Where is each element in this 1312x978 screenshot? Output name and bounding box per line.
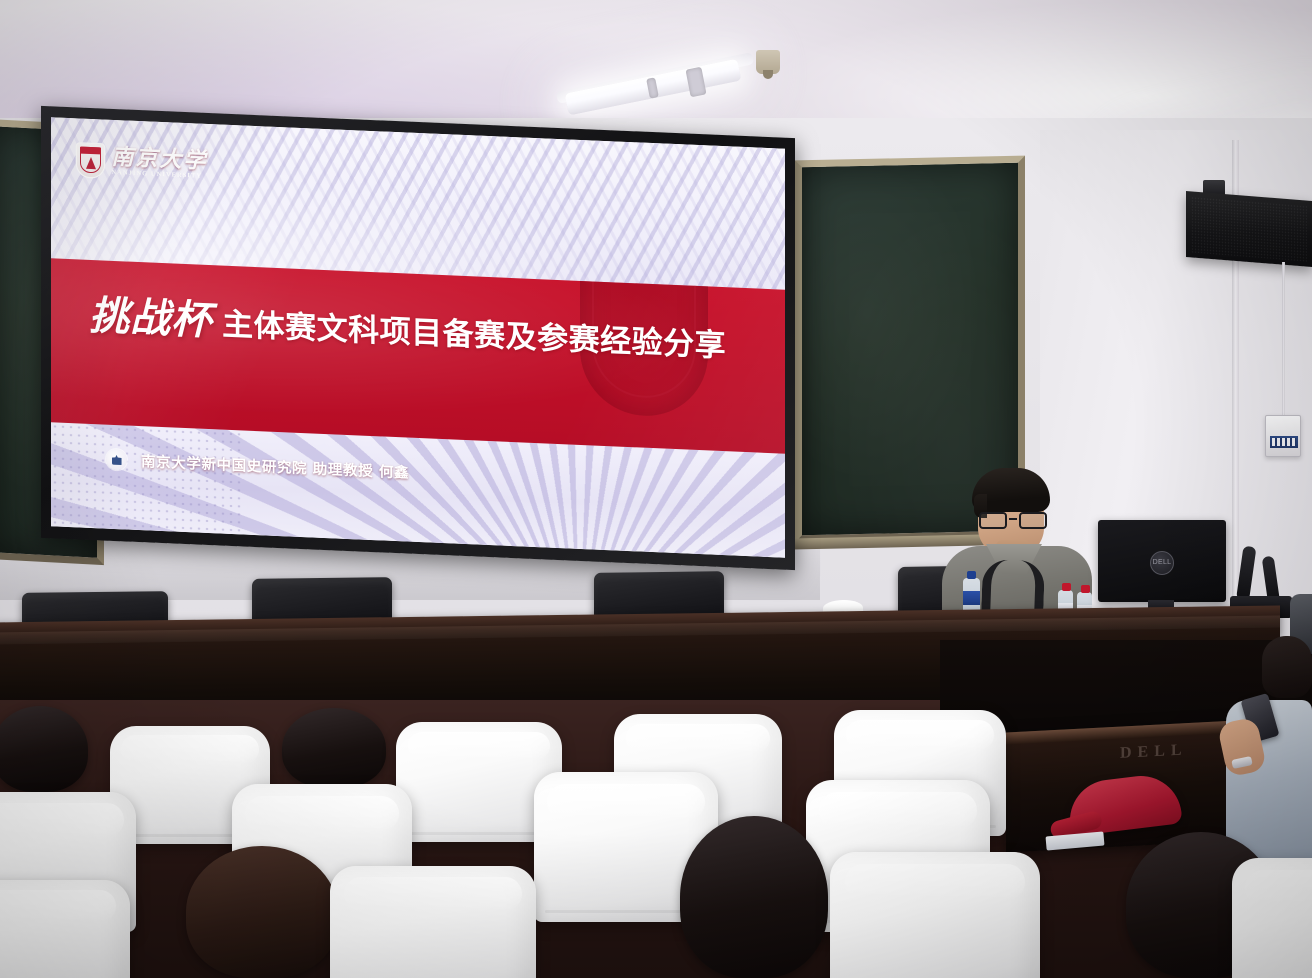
- crest-figure: [86, 156, 96, 168]
- dell-logo-icon: DELL: [1150, 551, 1174, 575]
- slide-title-brush: 挑战杯: [89, 283, 212, 346]
- dell-monitor: DELL: [1098, 520, 1226, 602]
- wall-conduit: [1282, 262, 1285, 417]
- eyeglasses-icon: [978, 512, 1048, 529]
- crest-band: [80, 146, 101, 154]
- breaker-switches[interactable]: [1270, 436, 1298, 448]
- attendee-head: [186, 846, 338, 978]
- nju-logo-text: 南京大学 NANJING UNIVERSITY: [111, 146, 207, 181]
- speaker-grill: [1191, 196, 1307, 261]
- white-covered-chair: [330, 866, 536, 978]
- attendee-head-right: [1262, 636, 1312, 698]
- bottle-label: [963, 591, 980, 605]
- nju-shield-crest-icon: [77, 143, 104, 177]
- white-covered-chair: [0, 880, 130, 978]
- speaker-hair: [972, 468, 1050, 512]
- slide-dot-texture: [51, 422, 242, 534]
- white-covered-chair: [830, 852, 1040, 978]
- white-covered-chair: [1232, 858, 1312, 978]
- electrical-breaker-panel: [1265, 415, 1301, 457]
- projection-screen-frame: 南京大学 NANJING UNIVERSITY 挑战杯 主体赛文科项目备赛及参赛…: [41, 106, 795, 570]
- attendee-head: [0, 706, 88, 792]
- presenter-person-icon: [106, 449, 127, 471]
- nju-logo: 南京大学 NANJING UNIVERSITY: [77, 143, 207, 182]
- nju-name-cn: 南京大学: [111, 146, 207, 172]
- seated-speaker: [938, 470, 1098, 630]
- wall-mounted-speaker: [1186, 191, 1312, 267]
- lecture-hall-photo: 南京大学 NANJING UNIVERSITY 挑战杯 主体赛文科项目备赛及参赛…: [0, 0, 1312, 978]
- fire-sprinkler-icon: [756, 50, 780, 74]
- attendee-head: [282, 708, 386, 788]
- projection-screen: 南京大学 NANJING UNIVERSITY 挑战杯 主体赛文科项目备赛及参赛…: [51, 117, 785, 557]
- presentation-slide: 南京大学 NANJING UNIVERSITY 挑战杯 主体赛文科项目备赛及参赛…: [51, 117, 785, 557]
- attendee-head: [680, 816, 828, 978]
